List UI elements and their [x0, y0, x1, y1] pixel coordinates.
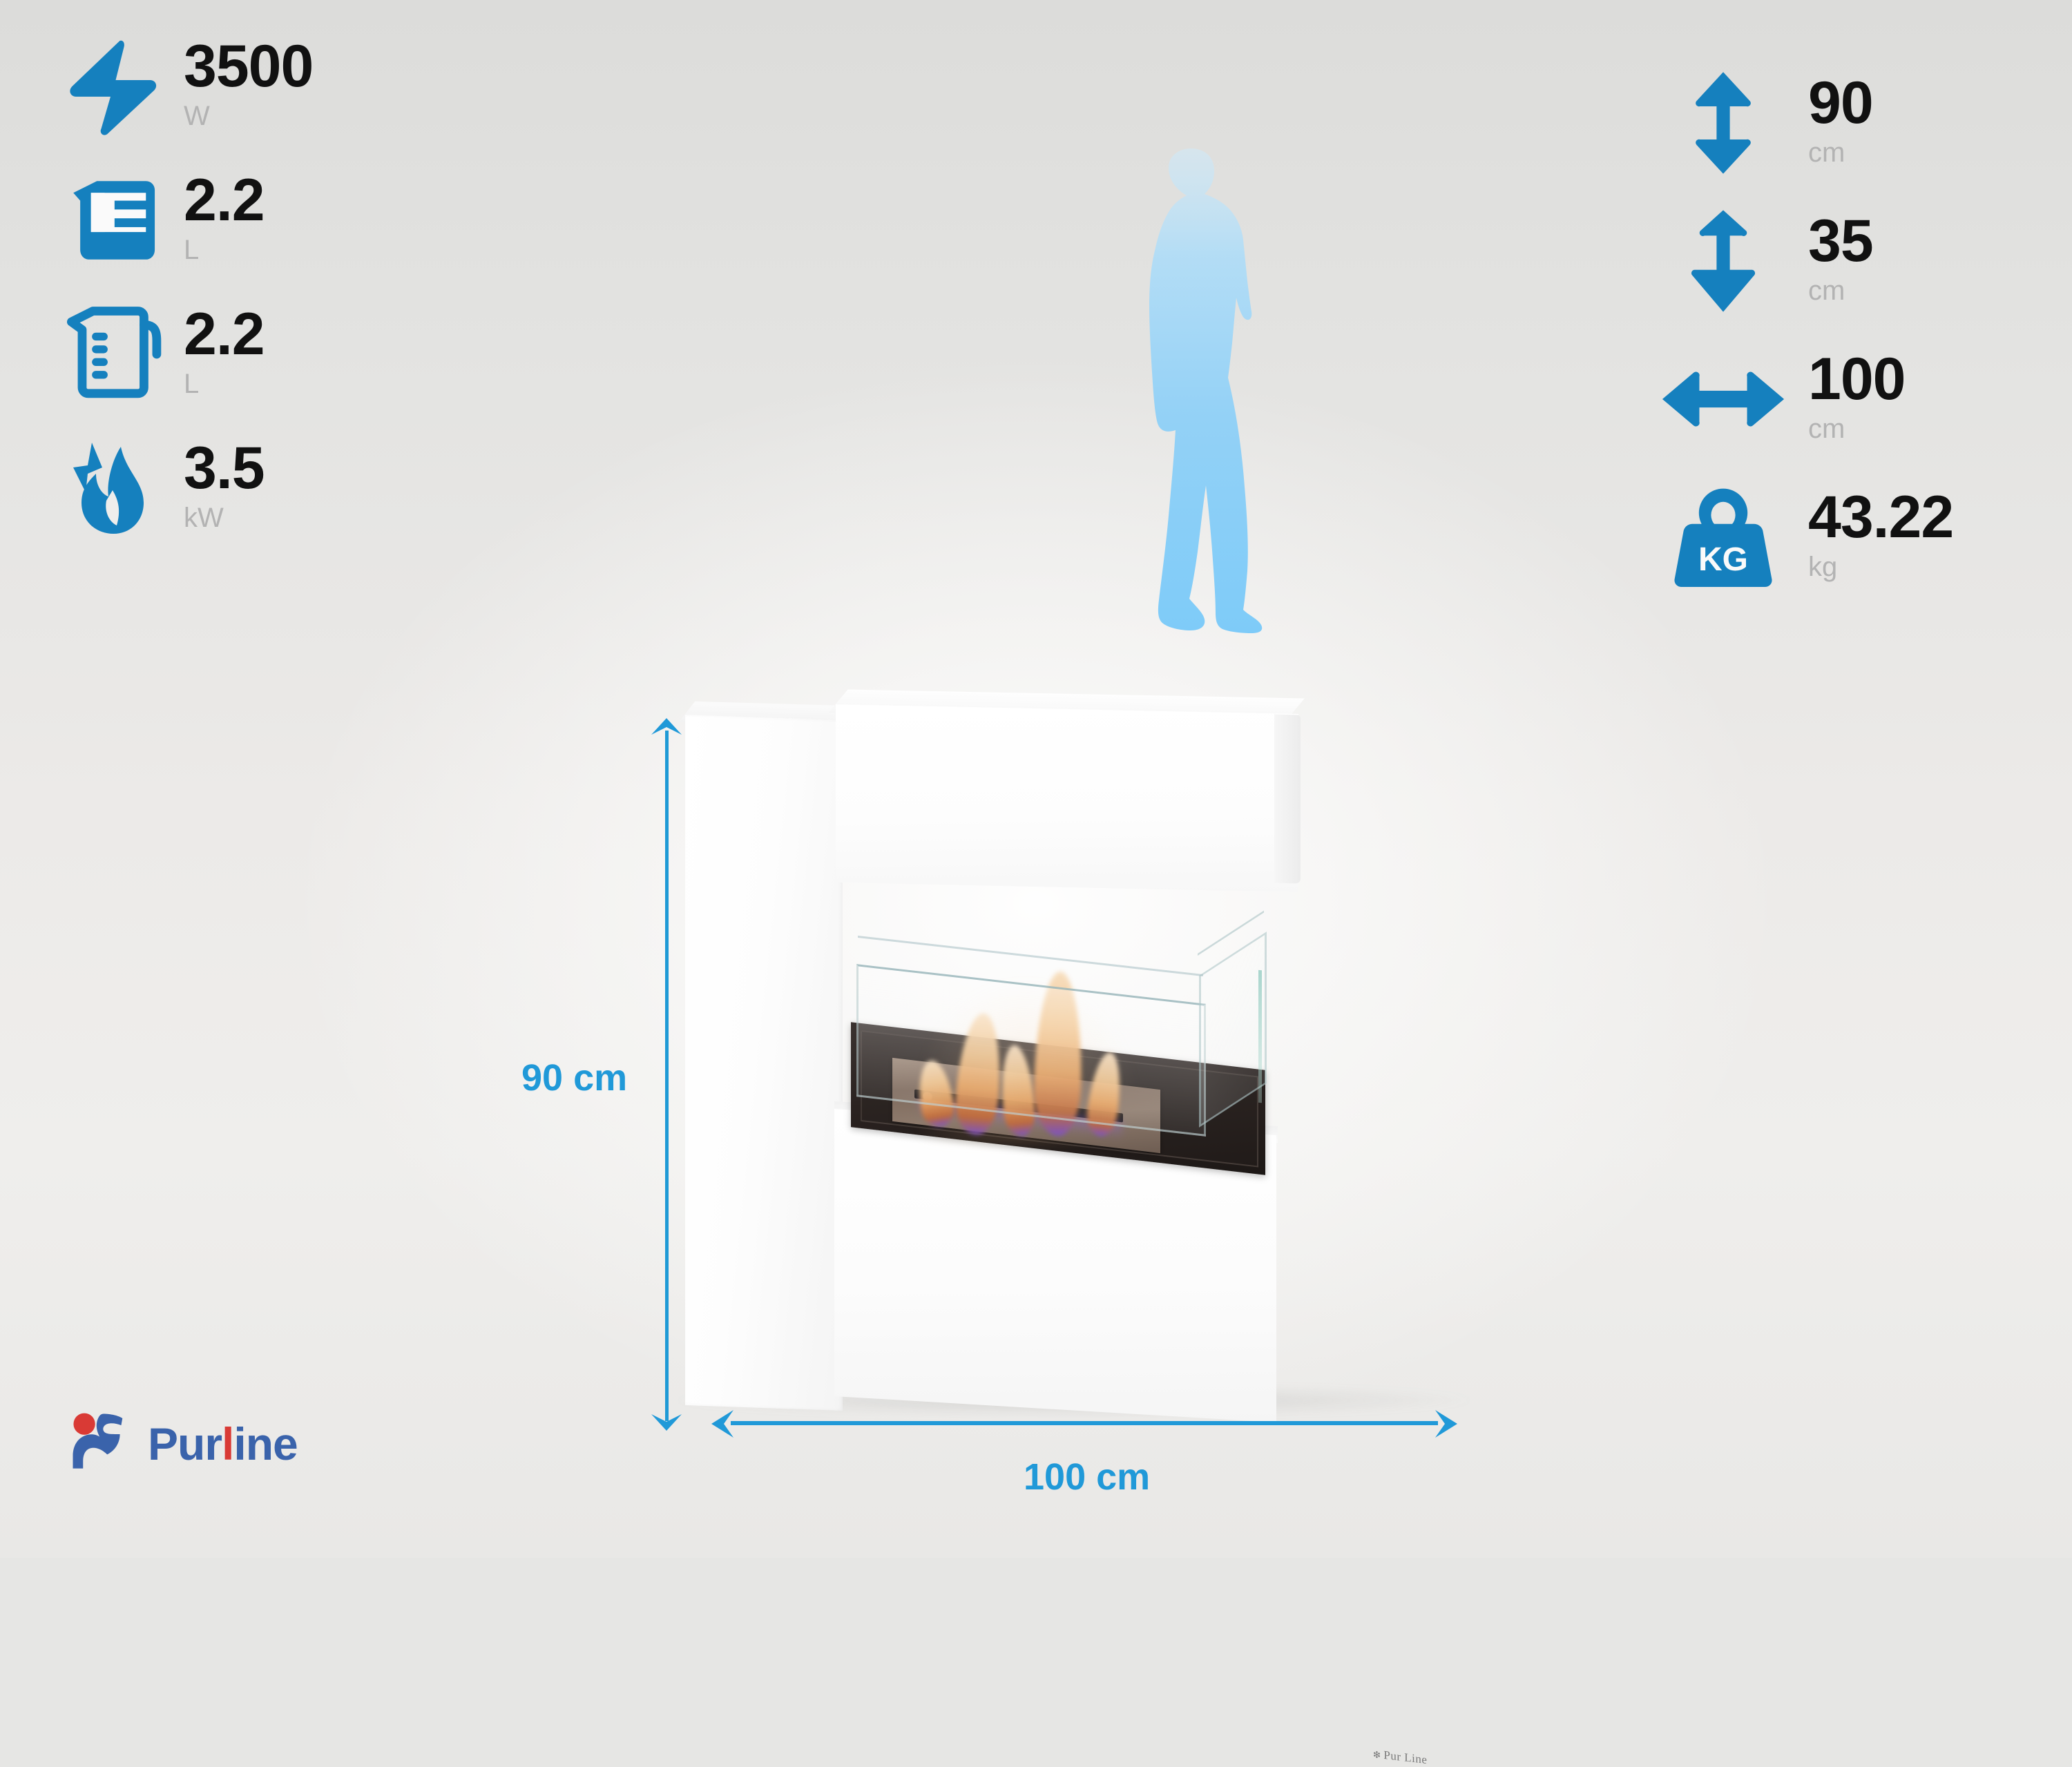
- glass-enclosure: [856, 944, 1264, 1125]
- spec-text-fuel-consumption: 2.2 L: [184, 307, 265, 400]
- height-dimension-arrow-bottom: [650, 1413, 683, 1431]
- fireplace-product-image: ❇Pur Line: [649, 701, 1499, 1433]
- purline-logo[interactable]: Purline: [69, 1410, 298, 1477]
- spec-row-fuel-consumption: 2.2 L: [54, 296, 313, 413]
- logo-text-part2: ine: [233, 1418, 297, 1469]
- spec-text-height: 90 cm: [1808, 76, 1873, 169]
- spec-row-weight: KG 43.22 kg: [1651, 475, 1953, 599]
- depth-arrow-icon: [1651, 199, 1796, 323]
- spec-row-width: 100 cm: [1651, 337, 1953, 461]
- width-dimension-arrow-left: [711, 1410, 732, 1438]
- spec-text-weight: 43.22 kg: [1808, 490, 1953, 583]
- spec-row-heat-output: 3.5 kW: [54, 429, 313, 547]
- spec-unit: L: [184, 233, 265, 267]
- logo-text-part1: Pur: [148, 1418, 222, 1469]
- spec-unit: L: [184, 367, 265, 401]
- spec-text-depth: 35 cm: [1808, 214, 1873, 307]
- svg-text:KG: KG: [1698, 541, 1748, 578]
- spec-unit: cm: [1808, 273, 1873, 308]
- spec-unit: W: [184, 99, 313, 133]
- spec-unit: cm: [1808, 135, 1873, 170]
- fireplace-left-column: [685, 715, 843, 1411]
- spec-value: 43.22: [1808, 490, 1953, 545]
- fireplace-top-arm-end-cap: [1274, 714, 1301, 883]
- spec-unit: cm: [1808, 412, 1906, 446]
- height-dimension-label: 90 cm: [521, 1056, 627, 1099]
- spec-value: 35: [1808, 214, 1873, 269]
- spec-value: 90: [1808, 76, 1873, 131]
- glass-green-edge: [1258, 970, 1262, 1103]
- beaker-icon: [54, 162, 171, 279]
- spec-value: 3500: [184, 39, 313, 94]
- spec-text-power: 3500 W: [184, 39, 313, 133]
- spec-unit: kg: [1808, 550, 1953, 584]
- spec-value: 3.5: [184, 441, 265, 496]
- human-scale-silhouette: [1105, 148, 1326, 659]
- infographic-canvas: 3500 W 2.2 L: [0, 0, 2072, 1558]
- right-spec-list: 90 cm 35 cm 100 cm: [1651, 61, 1953, 599]
- spec-value: 2.2: [184, 173, 265, 228]
- spec-value: 2.2: [184, 307, 265, 362]
- flame-bolt-icon: [54, 429, 171, 547]
- measuring-jug-icon: [54, 296, 171, 413]
- spec-text-heat-output: 3.5 kW: [184, 441, 265, 534]
- left-spec-list: 3500 W 2.2 L: [54, 28, 313, 547]
- width-dimension-line: [731, 1421, 1438, 1425]
- logo-text-accent: l: [222, 1418, 233, 1469]
- spec-text-tank-capacity: 2.2 L: [184, 173, 265, 267]
- width-arrow-icon: [1651, 337, 1796, 461]
- product-brand-mark: ❇Pur Line: [1373, 1747, 1427, 1767]
- spec-value: 100: [1808, 352, 1906, 407]
- brand-mark-star: ❇: [1373, 1749, 1381, 1760]
- brand-mark-text: Pur Line: [1383, 1748, 1427, 1766]
- weight-kg-icon: KG: [1651, 475, 1796, 599]
- spec-text-width: 100 cm: [1808, 352, 1906, 445]
- spec-row-height: 90 cm: [1651, 61, 1953, 185]
- spec-row-power: 3500 W: [54, 28, 313, 145]
- width-dimension-label: 100 cm: [1024, 1456, 1150, 1498]
- spec-row-depth: 35 cm: [1651, 199, 1953, 323]
- purline-logo-mark: [69, 1410, 133, 1477]
- height-arrow-icon: [1651, 61, 1796, 185]
- fireplace-top-arm: [836, 704, 1298, 892]
- height-dimension-line: [665, 731, 669, 1421]
- spec-row-tank-capacity: 2.2 L: [54, 162, 313, 279]
- glass-front-pane: [856, 964, 1206, 1137]
- spec-unit: kW: [184, 501, 265, 535]
- width-dimension-arrow-right: [1434, 1410, 1455, 1438]
- glass-side-pane: [1199, 931, 1267, 1128]
- lightning-bolt-icon: [54, 28, 171, 145]
- purline-logo-text: Purline: [148, 1421, 298, 1467]
